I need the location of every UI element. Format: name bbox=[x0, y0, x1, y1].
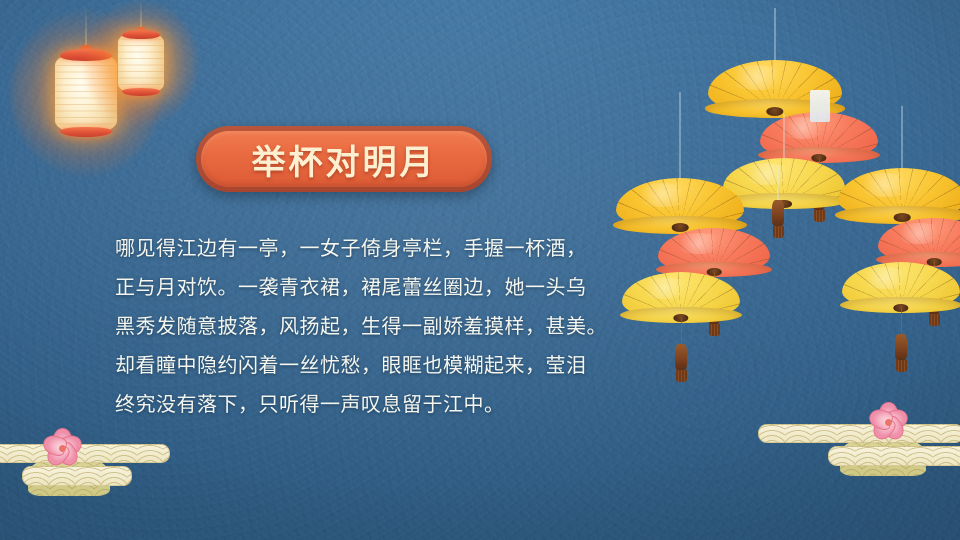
umbrella-highlight bbox=[894, 223, 943, 244]
cloud-band-bottom-left bbox=[0, 440, 190, 496]
umbrella-highlight bbox=[740, 163, 794, 185]
umbrella-tassel bbox=[675, 318, 687, 382]
umbrella-lantern-5 bbox=[658, 228, 770, 274]
umbrella-lantern-8 bbox=[878, 218, 960, 264]
umbrella-lantern-4 bbox=[616, 178, 744, 230]
umbrella-cord bbox=[902, 106, 903, 168]
lantern-cap bbox=[122, 30, 161, 39]
paper-lantern-small bbox=[118, 32, 164, 94]
tassel-cord bbox=[778, 166, 779, 200]
umbrella-tassel bbox=[895, 308, 907, 372]
body-line: 却看瞳中隐约闪着一丝忧愁，眼眶也模糊起来，莹泪 bbox=[115, 349, 615, 383]
umbrella-cord bbox=[784, 114, 785, 158]
sakura-bottom-left bbox=[40, 426, 84, 470]
umbrella-highlight bbox=[727, 65, 786, 90]
umbrella-tassel bbox=[772, 200, 784, 238]
slide-canvas: 举杯对明月 哪见得江边有一亭，一女子倚身亭栏，手握一杯酒， 正与月对饮。一袭青衣… bbox=[0, 0, 960, 540]
umbrella-cord bbox=[775, 8, 776, 60]
umbrella-lantern-6 bbox=[622, 272, 740, 320]
cloud-band-bottom-right bbox=[766, 420, 960, 476]
body-paragraph: 哪见得江边有一亭，一女子倚身亭栏，手握一杯酒， 正与月对饮。一袭青衣裙，裙尾蕾丝… bbox=[115, 232, 615, 427]
umbrella-lantern-9 bbox=[842, 262, 960, 310]
umbrella-lantern-7 bbox=[838, 168, 960, 220]
hanging-tassel bbox=[772, 200, 784, 210]
body-line: 哪见得江边有一亭，一女子倚身亭栏，手握一杯酒， bbox=[115, 232, 615, 266]
paper-slip bbox=[810, 90, 830, 122]
body-line: 黑秀发随意披落，风扬起，生得一副娇羞摸样，甚美。 bbox=[115, 310, 615, 344]
cloud-bar-upper bbox=[0, 444, 170, 463]
cloud-bar-lower bbox=[828, 446, 960, 466]
body-line: 终究没有落下，只听得一声叹息留于江中。 bbox=[115, 388, 615, 422]
title-banner-inner: 举杯对明月 bbox=[201, 131, 487, 187]
title-banner: 举杯对明月 bbox=[196, 126, 492, 192]
sakura-bottom-right bbox=[866, 400, 910, 444]
umbrella-highlight bbox=[856, 173, 912, 197]
umbrella-cord bbox=[680, 92, 681, 178]
lantern-body bbox=[118, 32, 164, 94]
umbrella-highlight bbox=[634, 183, 690, 207]
umbrella-highlight bbox=[859, 267, 911, 289]
umbrella-highlight bbox=[674, 233, 723, 254]
cloud-bar-upper bbox=[758, 424, 960, 443]
page-title: 举杯对明月 bbox=[252, 135, 437, 184]
umbrella-highlight bbox=[639, 277, 691, 299]
body-line: 正与月对饮。一袭青衣裙，裙尾蕾丝圈边，她一头乌 bbox=[115, 271, 615, 305]
